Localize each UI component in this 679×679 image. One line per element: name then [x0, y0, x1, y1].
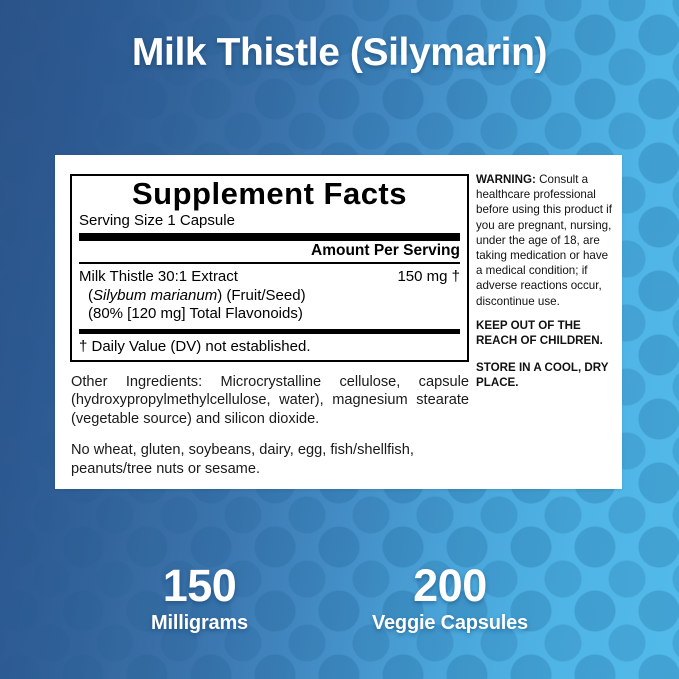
product-stats-row: 150 Milligrams 200 Veggie Capsules	[0, 563, 679, 636]
supplement-facts-column: Supplement Facts Serving Size 1 Capsule …	[55, 155, 470, 489]
ingredient-name: Milk Thistle 30:1 Extract	[79, 268, 238, 287]
amount-per-serving-header: Amount Per Serving	[79, 242, 460, 261]
storage-instruction-text: STORE IN A COOL, DRY PLACE.	[476, 360, 614, 390]
ingredient-main-line: Milk Thistle 30:1 Extract 150 mg †	[79, 268, 460, 287]
warning-body-text: Consult a healthcare professional before…	[476, 173, 612, 308]
warning-heading: WARNING:	[476, 173, 536, 186]
ingredient-row: Milk Thistle 30:1 Extract 150 mg † (Sily…	[79, 265, 460, 327]
supplement-facts-box: Supplement Facts Serving Size 1 Capsule …	[70, 174, 469, 362]
stat-count-value: 200	[372, 563, 528, 608]
divider-thick-top	[79, 233, 460, 241]
ingredient-amount: 150 mg †	[397, 268, 460, 287]
supplement-facts-heading: Supplement Facts	[79, 178, 460, 211]
serving-size-text: Serving Size 1 Capsule	[79, 212, 460, 230]
ingredient-latin-name: Silybum marianum	[93, 287, 217, 304]
ingredient-flavonoid-line: (80% [120 mg] Total Flavonoids)	[79, 305, 460, 324]
warning-paragraph: WARNING: Consult a healthcare profession…	[476, 172, 614, 309]
stat-count-label: Veggie Capsules	[372, 611, 528, 636]
latin-suffix: ) (Fruit/Seed)	[217, 287, 305, 304]
ingredient-latin-line: (Silybum marianum) (Fruit/Seed)	[79, 287, 460, 306]
stat-dosage-value: 150	[151, 563, 248, 608]
page-title: Milk Thistle (Silymarin)	[0, 31, 679, 75]
supplement-label-panel: Supplement Facts Serving Size 1 Capsule …	[55, 155, 622, 489]
other-ingredients-text: Other Ingredients: Microcrystalline cell…	[70, 362, 469, 429]
daily-value-note: † Daily Value (DV) not established.	[79, 335, 460, 358]
warning-column: WARNING: Consult a healthcare profession…	[470, 155, 622, 489]
divider-medium-lower	[79, 329, 460, 334]
stat-count: 200 Veggie Capsules	[372, 563, 528, 636]
keep-out-of-reach-text: KEEP OUT OF THE REACH OF CHILDREN.	[476, 318, 614, 348]
stat-dosage-label: Milligrams	[151, 611, 248, 636]
divider-thin-upper	[79, 262, 460, 264]
product-label-card: Milk Thistle (Silymarin) Supplement Fact…	[0, 0, 679, 679]
allergen-note-text: No wheat, gluten, soybeans, dairy, egg, …	[70, 429, 469, 479]
stat-dosage: 150 Milligrams	[151, 563, 248, 636]
